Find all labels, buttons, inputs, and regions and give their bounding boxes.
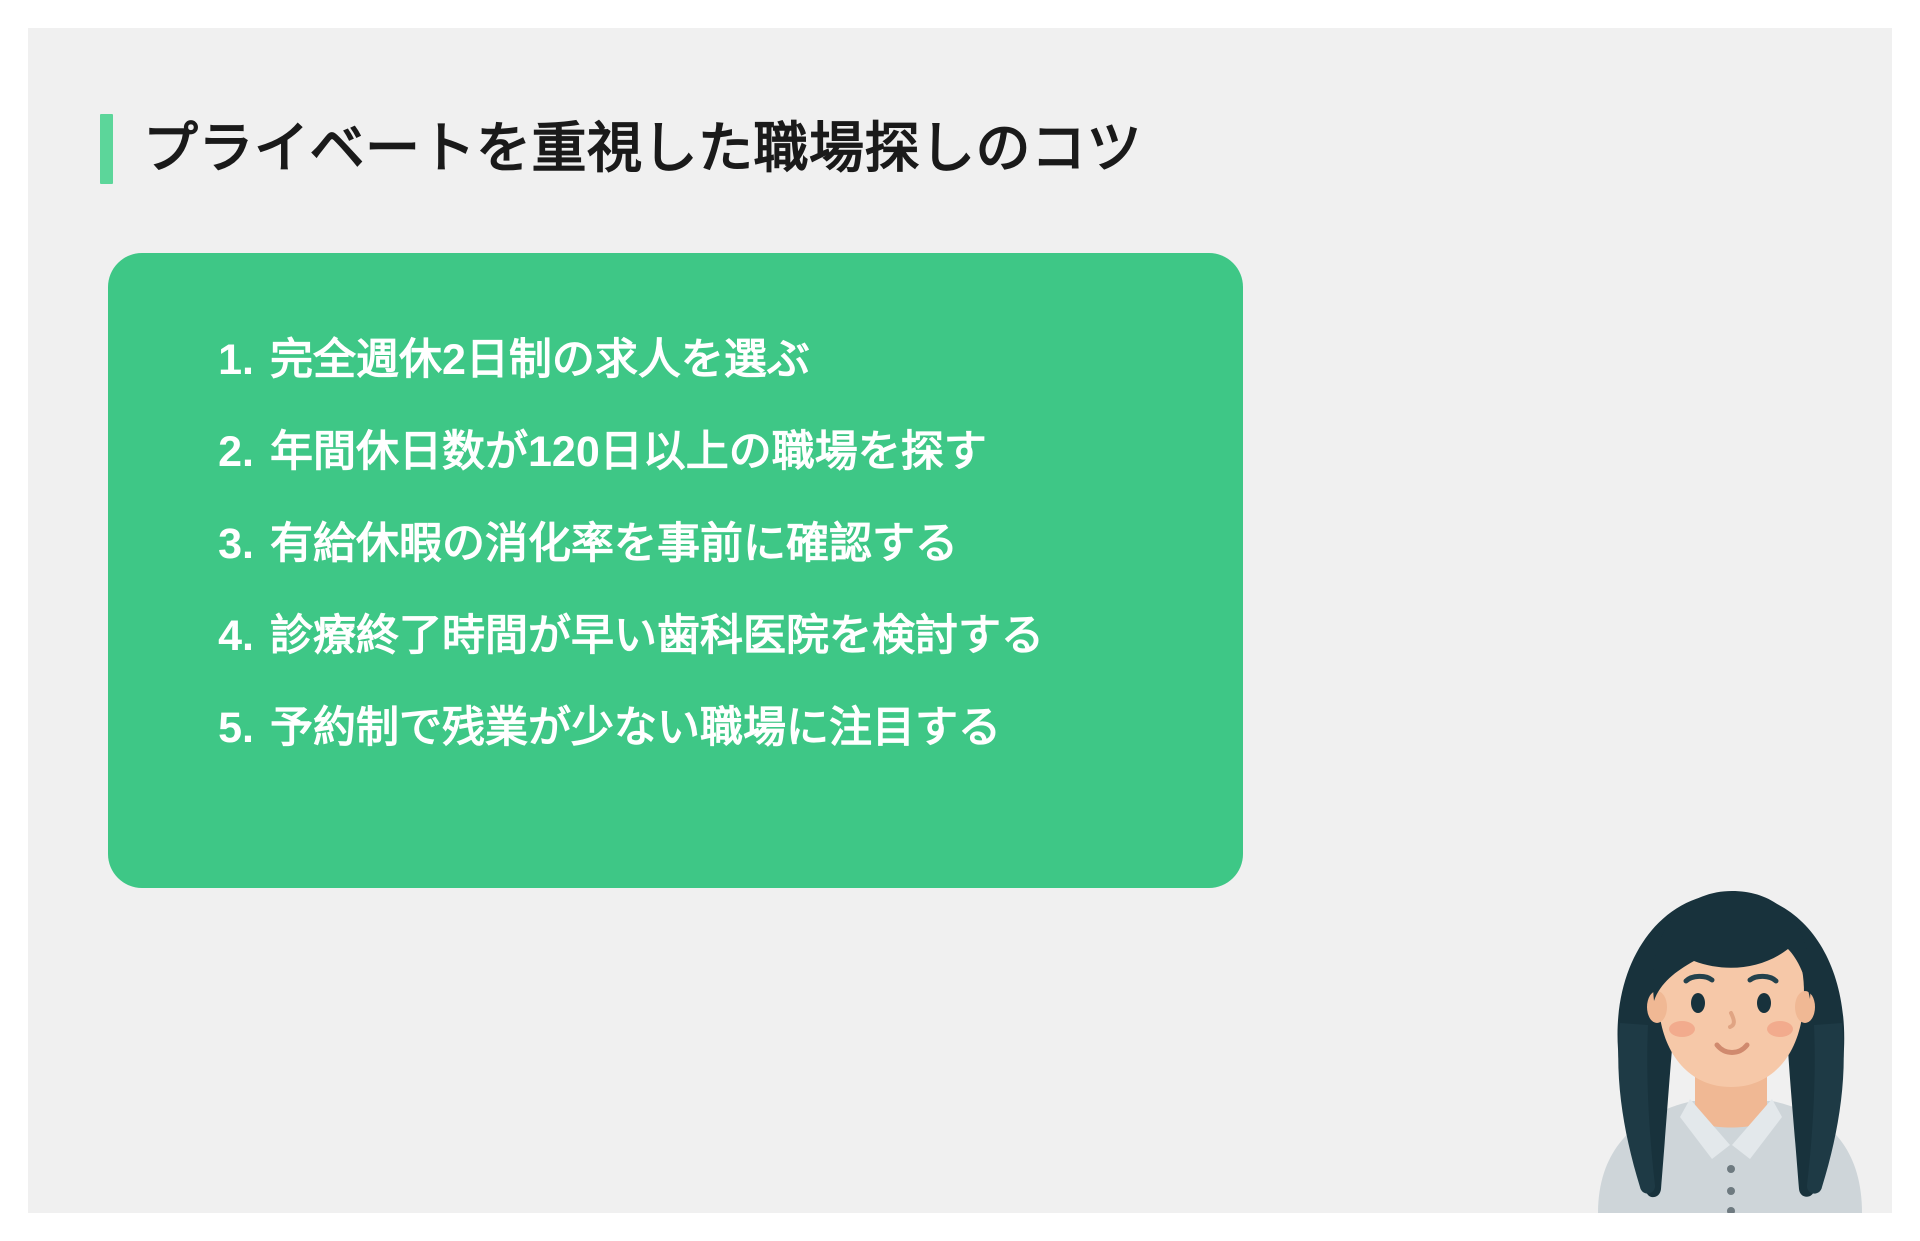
list-item: 4. 診療終了時間が早い歯科医院を検討する bbox=[188, 615, 1213, 707]
list-item-number: 1. bbox=[188, 339, 254, 382]
list-item-number: 5. bbox=[188, 707, 254, 750]
list-item: 5. 予約制で残業が少ない職場に注目する bbox=[188, 707, 1213, 799]
eye-left bbox=[1691, 993, 1705, 1013]
tips-list: 1. 完全週休2日制の求人を選ぶ 2. 年間休日数が120日以上の職場を探す 3… bbox=[188, 339, 1213, 799]
button-top bbox=[1727, 1165, 1735, 1173]
list-item-label: 予約制で残業が少ない職場に注目する bbox=[254, 707, 1001, 750]
page-title: プライベートを重視した職場探しのコツ bbox=[100, 114, 1142, 184]
list-item: 3. 有給休暇の消化率を事前に確認する bbox=[188, 523, 1213, 615]
tips-card: 1. 完全週休2日制の求人を選ぶ 2. 年間休日数が120日以上の職場を探す 3… bbox=[108, 253, 1243, 888]
list-item-label: 完全週休2日制の求人を選ぶ bbox=[254, 339, 810, 382]
woman-illustration bbox=[1562, 873, 1892, 1213]
ear-right bbox=[1795, 991, 1815, 1023]
list-item-label: 有給休暇の消化率を事前に確認する bbox=[254, 523, 958, 566]
list-item-label: 診療終了時間が早い歯科医院を検討する bbox=[254, 615, 1044, 658]
list-item-label: 年間休日数が120日以上の職場を探す bbox=[254, 431, 987, 474]
list-item-number: 3. bbox=[188, 523, 254, 566]
slide-canvas: プライベートを重視した職場探しのコツ 1. 完全週休2日制の求人を選ぶ 2. 年… bbox=[28, 28, 1892, 1213]
page-title-text: プライベートを重視した職場探しのコツ bbox=[143, 117, 1142, 180]
woman-illustration-svg bbox=[1562, 873, 1892, 1213]
ear-left bbox=[1647, 991, 1667, 1023]
list-item-number: 4. bbox=[188, 615, 254, 658]
list-item-number: 2. bbox=[188, 431, 254, 474]
cheek-right bbox=[1767, 1021, 1793, 1037]
list-item: 1. 完全週休2日制の求人を選ぶ bbox=[188, 339, 1213, 431]
slide-root: プライベートを重視した職場探しのコツ 1. 完全週休2日制の求人を選ぶ 2. 年… bbox=[0, 0, 1920, 1241]
button-middle bbox=[1727, 1187, 1735, 1195]
list-item: 2. 年間休日数が120日以上の職場を探す bbox=[188, 431, 1213, 523]
cheek-left bbox=[1669, 1021, 1695, 1037]
title-accent-bar bbox=[100, 114, 113, 184]
eye-right bbox=[1757, 993, 1771, 1013]
